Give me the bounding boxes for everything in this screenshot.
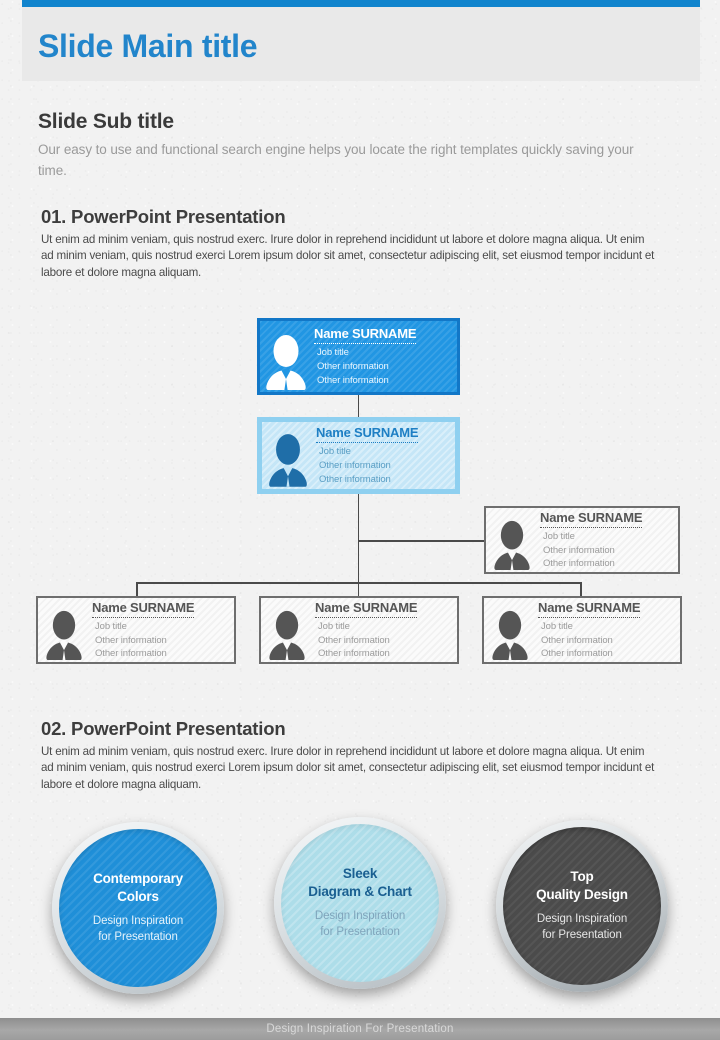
org-card-info-2: Other information — [314, 374, 451, 388]
org-card-name: Name SURNAME — [316, 425, 418, 443]
org-card-job-title: Job title — [540, 530, 672, 544]
circle-title-line-2: Colors — [93, 888, 183, 906]
org-card-member-2[interactable]: Name SURNAME Job title Other information… — [259, 596, 459, 664]
circle-sub-line-2: for Presentation — [537, 927, 627, 943]
connector-ceo-to-director — [358, 395, 360, 417]
circle-subtitle: Design Inspiration for Presentation — [93, 913, 183, 946]
connector-branch-to-assistant — [358, 540, 485, 542]
org-card-text: Name SURNAME Job title Other information… — [538, 509, 678, 571]
connector-bottom-bus — [136, 582, 581, 584]
org-card-name: Name SURNAME — [538, 600, 640, 618]
connector-bus-to-member-3 — [580, 582, 582, 596]
org-card-job-title: Job title — [314, 346, 451, 360]
connector-director-trunk — [358, 494, 360, 596]
circle-title-line-1: Contemporary — [93, 870, 183, 888]
org-card-text: Name SURNAME Job title Other information… — [312, 325, 457, 387]
person-avatar-icon — [261, 598, 313, 662]
footer-text: Design Inspiration For Presentation — [266, 1023, 453, 1035]
intro-description: Our easy to use and functional search en… — [38, 140, 663, 182]
footer-bar: Design Inspiration For Presentation — [0, 1018, 720, 1040]
org-card-text: Name SURNAME Job title Other information… — [536, 599, 680, 661]
circle-title: Top Quality Design — [536, 868, 628, 904]
section-01-body: Ut enim ad minim veniam, quis nostrud ex… — [41, 232, 657, 281]
page-title: Slide Main title — [38, 28, 257, 65]
circle-body: Sleek Diagram & Chart Design Inspiration… — [281, 824, 439, 982]
circle-title: Sleek Diagram & Chart — [308, 865, 412, 901]
section-02-body: Ut enim ad minim veniam, quis nostrud ex… — [41, 744, 657, 793]
org-card-info-1: Other information — [538, 634, 674, 648]
org-card-text: Name SURNAME Job title Other information… — [313, 599, 457, 661]
org-card-info-1: Other information — [540, 544, 672, 558]
circle-title-line-2: Quality Design — [536, 886, 628, 904]
circle-sub-line-1: Design Inspiration — [537, 911, 627, 927]
circle-title: Contemporary Colors — [93, 870, 183, 906]
person-avatar-icon — [484, 598, 536, 662]
circle-sleek-diagram-chart[interactable]: Sleek Diagram & Chart Design Inspiration… — [274, 817, 446, 989]
org-card-director[interactable]: Name SURNAME Job title Other information… — [257, 417, 460, 494]
org-chart: Name SURNAME Job title Other information… — [0, 300, 720, 680]
circle-title-line-1: Top — [536, 868, 628, 886]
org-card-member-3[interactable]: Name SURNAME Job title Other information… — [482, 596, 682, 664]
org-card-job-title: Job title — [316, 445, 449, 459]
circle-sub-line-1: Design Inspiration — [93, 913, 183, 929]
circle-body: Top Quality Design Design Inspiration fo… — [503, 827, 661, 985]
org-card-name: Name SURNAME — [314, 326, 416, 344]
org-card-job-title: Job title — [538, 620, 674, 634]
connector-bus-to-member-1 — [136, 582, 138, 596]
person-avatar-icon — [486, 508, 538, 572]
circle-body: Contemporary Colors Design Inspiration f… — [59, 829, 217, 987]
org-card-info-2: Other information — [316, 473, 449, 487]
person-avatar-icon — [260, 321, 312, 392]
circle-sub-line-2: for Presentation — [93, 929, 183, 945]
org-card-info-1: Other information — [314, 360, 451, 374]
circle-title-line-2: Diagram & Chart — [308, 883, 412, 901]
section-02-heading: 02. PowerPoint Presentation — [41, 718, 285, 740]
feature-circles: Contemporary Colors Design Inspiration f… — [0, 812, 720, 997]
circle-title-line-1: Sleek — [308, 865, 412, 883]
person-avatar-icon — [262, 422, 314, 489]
org-card-name: Name SURNAME — [92, 600, 194, 618]
circle-contemporary-colors[interactable]: Contemporary Colors Design Inspiration f… — [52, 822, 224, 994]
org-card-info-2: Other information — [538, 647, 674, 661]
org-card-job-title: Job title — [92, 620, 228, 634]
org-card-info-2: Other information — [540, 557, 672, 571]
circle-sub-line-2: for Presentation — [315, 924, 405, 940]
circle-top-quality-design[interactable]: Top Quality Design Design Inspiration fo… — [496, 820, 668, 992]
org-card-job-title: Job title — [315, 620, 451, 634]
circle-subtitle: Design Inspiration for Presentation — [537, 911, 627, 944]
circle-subtitle: Design Inspiration for Presentation — [315, 908, 405, 941]
org-card-info-1: Other information — [316, 459, 449, 473]
org-card-name: Name SURNAME — [315, 600, 417, 618]
org-card-name: Name SURNAME — [540, 510, 642, 528]
org-card-member-1[interactable]: Name SURNAME Job title Other information… — [36, 596, 236, 664]
top-accent-bar — [22, 0, 700, 7]
section-01-heading: 01. PowerPoint Presentation — [41, 206, 285, 228]
org-card-assistant[interactable]: Name SURNAME Job title Other information… — [484, 506, 680, 574]
sub-title: Slide Sub title — [38, 110, 174, 134]
org-card-info-1: Other information — [92, 634, 228, 648]
circle-sub-line-1: Design Inspiration — [315, 908, 405, 924]
org-card-info-2: Other information — [92, 647, 228, 661]
org-card-ceo[interactable]: Name SURNAME Job title Other information… — [257, 318, 460, 395]
person-avatar-icon — [38, 598, 90, 662]
org-card-text: Name SURNAME Job title Other information… — [90, 599, 234, 661]
org-card-info-2: Other information — [315, 647, 451, 661]
org-card-info-1: Other information — [315, 634, 451, 648]
org-card-text: Name SURNAME Job title Other information… — [314, 424, 455, 486]
